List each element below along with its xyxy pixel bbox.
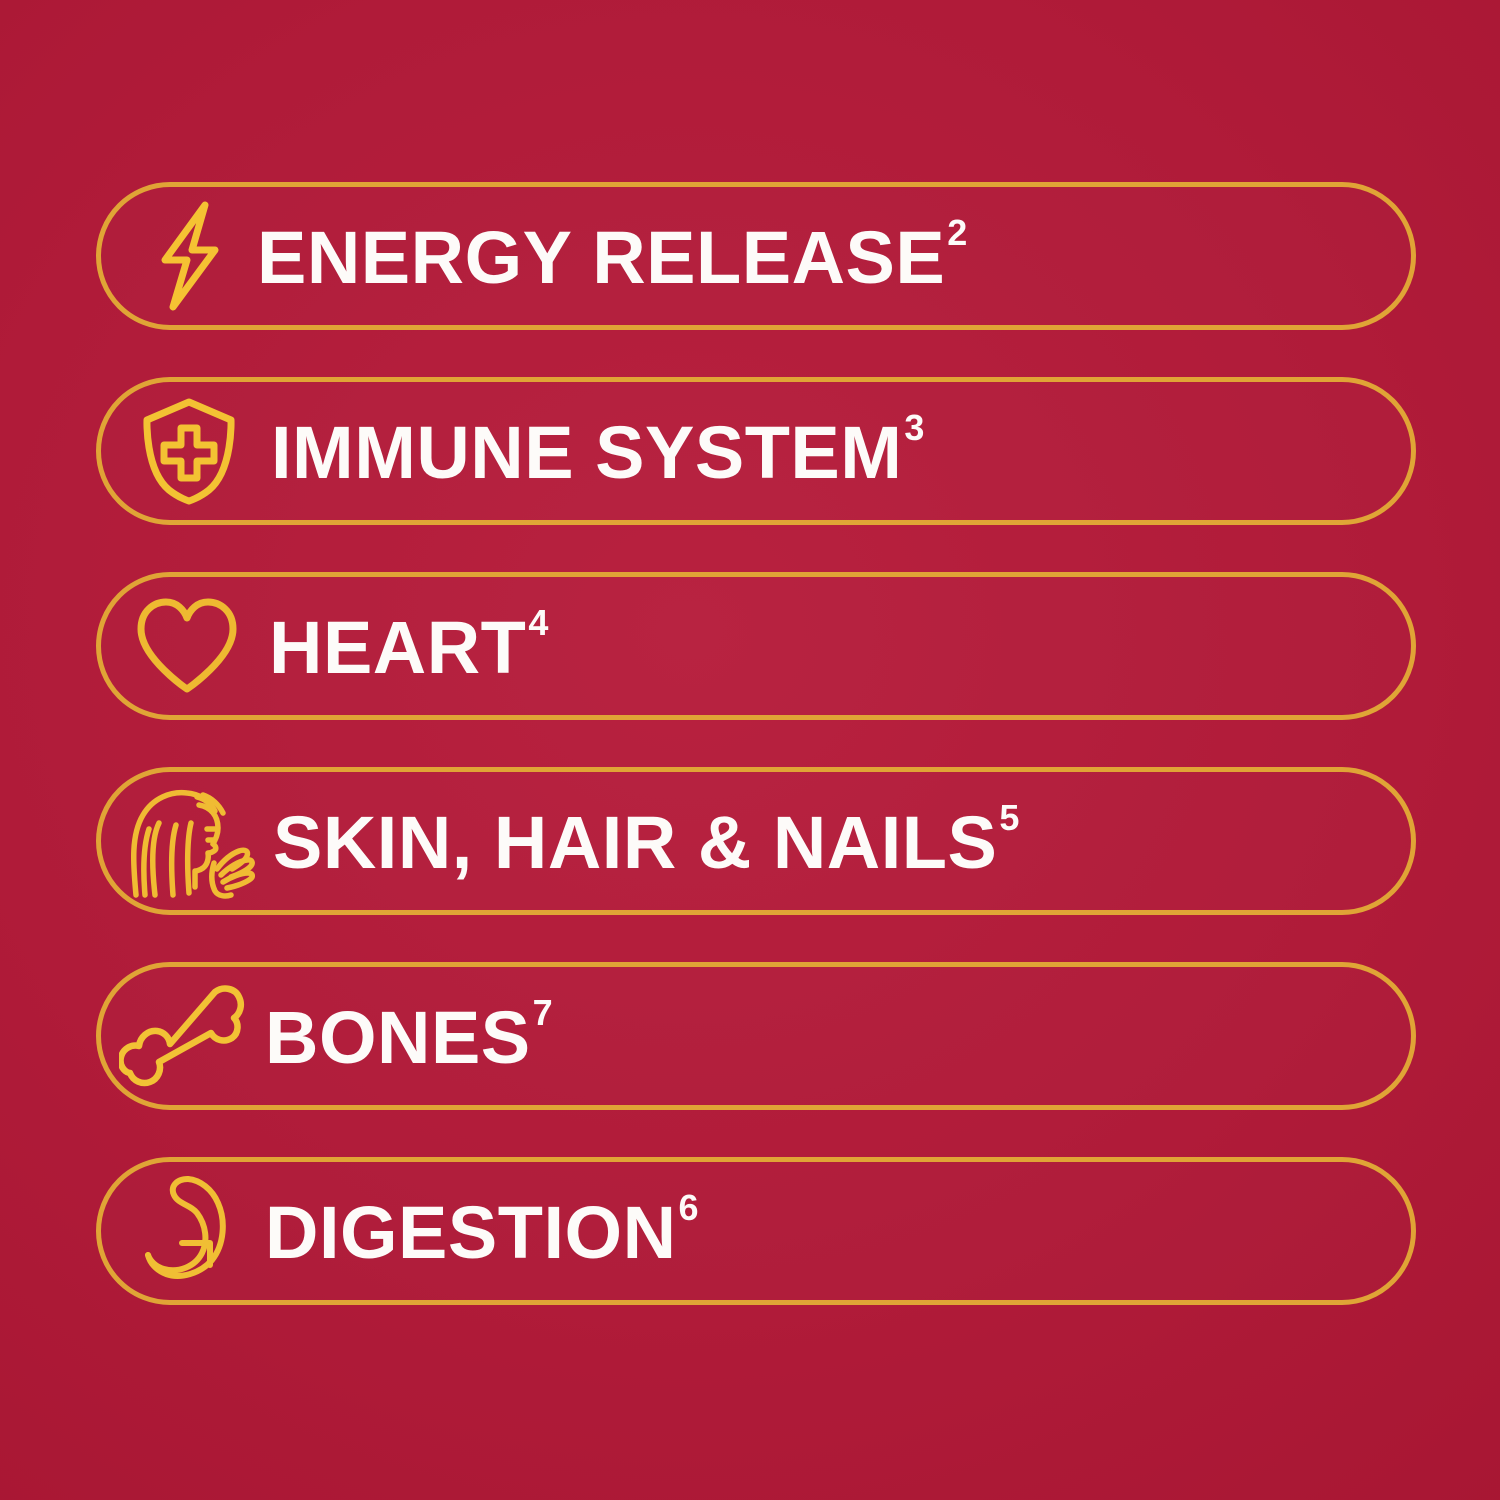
benefit-label-bones: BONES7 — [265, 1001, 1411, 1075]
stomach-icon — [131, 1172, 249, 1290]
footnote-marker: 5 — [999, 797, 1019, 838]
shield-plus-icon — [123, 392, 255, 510]
lightning-bolt-icon — [137, 197, 241, 315]
footnote-marker: 7 — [533, 992, 553, 1033]
benefit-row-skin-hair-nails[interactable]: SKIN, HAIR & NAILS5 — [96, 767, 1416, 915]
benefit-label-digestion: DIGESTION6 — [265, 1196, 1411, 1270]
footnote-marker: 6 — [679, 1187, 699, 1228]
bone-icon — [117, 977, 249, 1095]
benefit-row-heart[interactable]: HEART4 — [96, 572, 1416, 720]
benefit-label-skin-hair-nails: SKIN, HAIR & NAILS5 — [273, 806, 1411, 880]
footnote-marker: 3 — [904, 407, 924, 448]
footnote-marker: 2 — [947, 212, 967, 253]
benefit-label-energy-release: ENERGY RELEASE2 — [257, 221, 1411, 295]
heart-icon — [121, 587, 253, 705]
benefit-label-heart: HEART4 — [269, 611, 1411, 685]
footnote-marker: 4 — [528, 602, 548, 643]
benefit-row-energy-release[interactable]: ENERGY RELEASE2 — [96, 182, 1416, 330]
benefits-panel: ENERGY RELEASE2 IMMUNE SYSTEM3 HEART4 — [0, 0, 1500, 1500]
woman-hair-hand-icon — [117, 782, 257, 900]
benefit-label-immune-system: IMMUNE SYSTEM3 — [271, 416, 1411, 490]
benefit-row-immune-system[interactable]: IMMUNE SYSTEM3 — [96, 377, 1416, 525]
benefit-row-digestion[interactable]: DIGESTION6 — [96, 1157, 1416, 1305]
benefit-row-bones[interactable]: BONES7 — [96, 962, 1416, 1110]
